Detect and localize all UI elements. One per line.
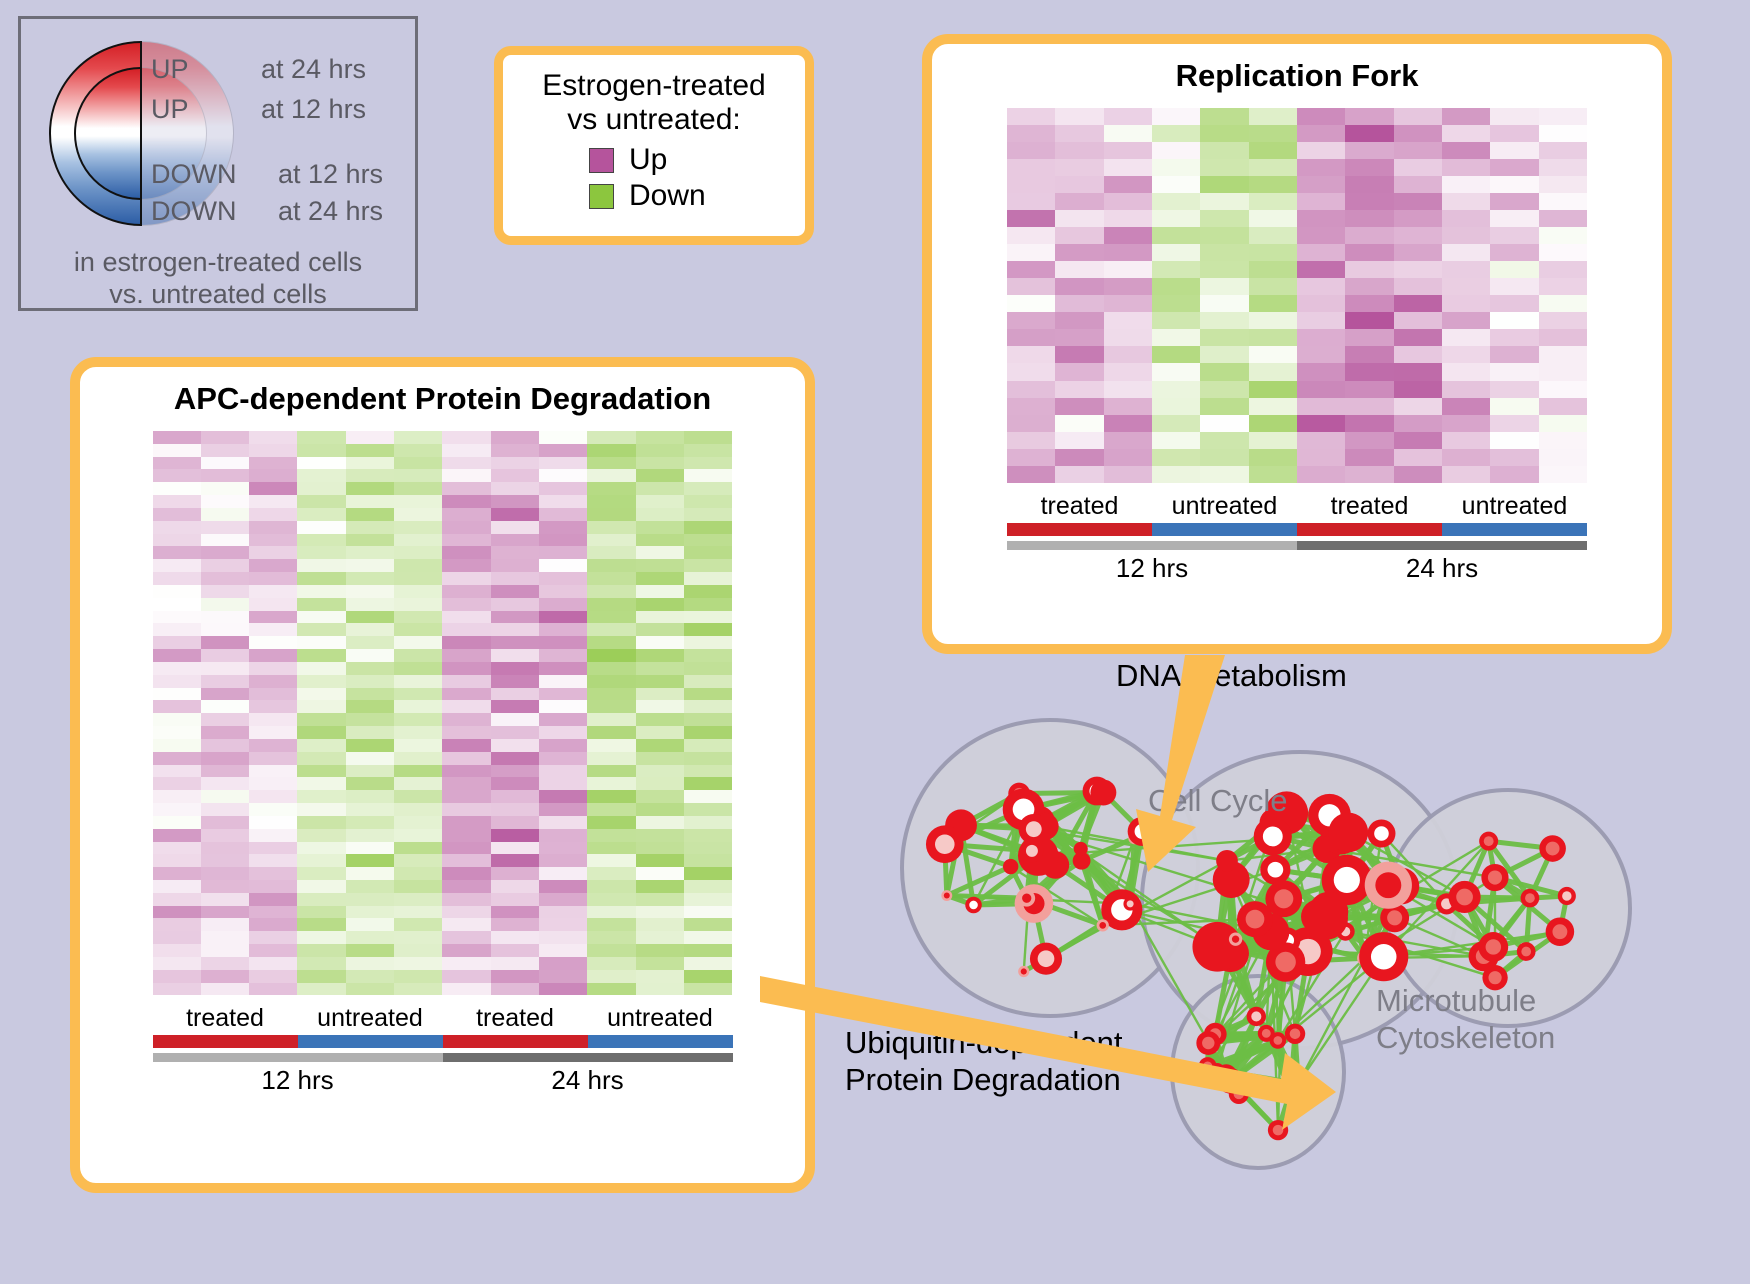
timepoint-labels: 12 hrs 24 hrs: [153, 1065, 733, 1096]
heatmap-cell: [346, 726, 394, 739]
heatmap-cell: [153, 713, 201, 726]
heatmap-cell: [1007, 227, 1055, 244]
heatmap-cell: [249, 906, 297, 919]
network-node-core: [1486, 939, 1501, 954]
heatmap-cell: [491, 931, 539, 944]
heatmap-cell: [539, 636, 587, 649]
heatmap-cell: [442, 469, 490, 482]
heatmap-cell: [1055, 244, 1103, 261]
heatmap-row: [153, 546, 733, 559]
heatmap-cell: [153, 944, 201, 957]
condition-label: untreated: [1152, 492, 1297, 521]
heatmap-cell: [636, 803, 684, 816]
network-node-core: [1525, 893, 1535, 903]
heatmap-cell: [1345, 227, 1393, 244]
heatmap-cell: [1249, 261, 1297, 278]
network-node-core: [1546, 842, 1560, 856]
heatmap-cell: [201, 662, 249, 675]
heatmap-cell: [394, 559, 442, 572]
heatmap-cell: [1104, 244, 1152, 261]
heatmap-cell: [636, 469, 684, 482]
heatmap-cell: [1490, 415, 1538, 432]
heatmap-cell: [684, 713, 732, 726]
heatmap-cell: [587, 469, 635, 482]
heatmap-cell: [684, 508, 732, 521]
heatmap-row: [1007, 381, 1587, 398]
heatmap-cell: [346, 739, 394, 752]
heatmap-cell: [394, 777, 442, 790]
heatmap-cell: [1490, 125, 1538, 142]
condition-bar-segment: [153, 1035, 298, 1048]
heatmap-cell: [1442, 193, 1490, 210]
heatmap-cell: [394, 906, 442, 919]
heatmap-row: [153, 970, 733, 983]
network-node-core: [1521, 947, 1531, 957]
heatmap-cell: [442, 623, 490, 636]
panel-apc-degradation: APC-dependent Protein Degradation treate…: [70, 357, 815, 1193]
heatmap-cell: [1249, 346, 1297, 363]
heatmap-cell: [249, 572, 297, 585]
heatmap-cell: [346, 842, 394, 855]
heatmap-cell: [394, 495, 442, 508]
heatmap-cell: [587, 662, 635, 675]
heatmap-cell: [636, 931, 684, 944]
heatmap-cell: [491, 842, 539, 855]
heatmap-cell: [1345, 193, 1393, 210]
heatmap-cell: [539, 803, 587, 816]
heatmap-cell: [346, 906, 394, 919]
heatmap-cell: [442, 636, 490, 649]
heatmap-row: [153, 688, 733, 701]
heatmap-cell: [153, 559, 201, 572]
network-node-core: [1213, 1066, 1220, 1073]
heatmap-cell: [1249, 432, 1297, 449]
heatmap-cell: [491, 739, 539, 752]
heatmap-cell: [153, 623, 201, 636]
heatmap-cell: [1442, 261, 1490, 278]
heatmap-row: [153, 803, 733, 816]
heatmap-cell: [1200, 142, 1248, 159]
heatmap-cell: [153, 842, 201, 855]
heatmap-cell: [491, 983, 539, 996]
heatmap-cell: [249, 931, 297, 944]
heatmap-cell: [249, 431, 297, 444]
heatmap-cell: [346, 457, 394, 470]
heatmap-cell: [346, 444, 394, 457]
heatmap-cell: [491, 970, 539, 983]
heatmap-cell: [1345, 278, 1393, 295]
heatmap-cell: [636, 893, 684, 906]
heatmap-cell: [1539, 329, 1587, 346]
heatmap-cell: [684, 918, 732, 931]
heatmap-cell: [249, 983, 297, 996]
network-node-core: [944, 893, 950, 899]
heatmap-cell: [684, 559, 732, 572]
heatmap-cell: [1200, 193, 1248, 210]
heatmap-cell: [684, 469, 732, 482]
heatmap-cell: [491, 469, 539, 482]
heatmap-cell: [1152, 398, 1200, 415]
heatmap-cell: [587, 713, 635, 726]
heatmap-cell: [201, 559, 249, 572]
heatmap-cell: [1394, 329, 1442, 346]
condition-label: untreated: [298, 1004, 443, 1033]
heatmap-cell: [1490, 159, 1538, 176]
heatmap-row: [1007, 227, 1587, 244]
heatmap-cell: [1345, 415, 1393, 432]
heatmap-cell: [249, 469, 297, 482]
heatmap-cell: [346, 931, 394, 944]
heatmap-cell: [587, 521, 635, 534]
heatmap-cell: [491, 559, 539, 572]
heatmap-cell: [587, 457, 635, 470]
heatmap-cell: [636, 482, 684, 495]
heatmap-cell: [684, 752, 732, 765]
legend-key-items: Up Down: [503, 143, 805, 213]
heatmap-row: [153, 623, 733, 636]
heatmap-cell: [297, 983, 345, 996]
heatmap-cell: [297, 444, 345, 457]
heatmap-cell: [539, 829, 587, 842]
heatmap-cell: [1297, 278, 1345, 295]
heatmap-cell: [684, 534, 732, 547]
heatmap-cell: [491, 752, 539, 765]
heatmap-cell: [539, 469, 587, 482]
heatmap-cell: [1539, 193, 1587, 210]
heatmap-row: [1007, 312, 1587, 329]
heatmap-cell: [636, 623, 684, 636]
heatmap-cell: [201, 585, 249, 598]
heatmap-cell: [1345, 381, 1393, 398]
heatmap-cell: [539, 662, 587, 675]
heatmap-row: [153, 508, 733, 521]
cluster-label-dna-metabolism: DNA Metabolism: [1116, 658, 1347, 694]
heatmap-cell: [394, 457, 442, 470]
heatmap-cell: [442, 931, 490, 944]
heatmap-cell: [491, 444, 539, 457]
heatmap-cell: [1249, 312, 1297, 329]
panel-replication-fork: Replication Fork treated untreated treat…: [922, 34, 1672, 654]
heatmap-cell: [153, 867, 201, 880]
heatmap-row: [1007, 449, 1587, 466]
heatmap-row: [1007, 159, 1587, 176]
heatmap-cell: [1007, 295, 1055, 312]
heatmap-cell: [297, 469, 345, 482]
heatmap-cell: [1152, 381, 1200, 398]
heatmap-cell: [249, 534, 297, 547]
network-node: [1192, 922, 1242, 972]
heatmap-cell: [442, 906, 490, 919]
condition-bar-segment: [588, 1035, 733, 1048]
heatmap-cell: [1200, 159, 1248, 176]
heatmap-cell: [153, 611, 201, 624]
heatmap-cell: [684, 572, 732, 585]
heatmap-cell: [636, 431, 684, 444]
heatmap-cell: [1104, 108, 1152, 125]
heatmap-cell: [1200, 227, 1248, 244]
heatmap-row: [153, 854, 733, 867]
heatmap-cell: [539, 431, 587, 444]
heatmap-cell: [1007, 176, 1055, 193]
heatmap-cell: [587, 649, 635, 662]
heatmap-cell: [1539, 398, 1587, 415]
heatmap-cell: [442, 842, 490, 855]
heatmap-cell: [491, 906, 539, 919]
heatmap-row: [1007, 244, 1587, 261]
heatmap-cell: [587, 790, 635, 803]
heatmap-cell: [442, 893, 490, 906]
heatmap-cell: [249, 944, 297, 957]
heatmap-cell: [153, 521, 201, 534]
heatmap-cell: [346, 790, 394, 803]
heatmap-row: [153, 726, 733, 739]
heatmap-cell: [1055, 210, 1103, 227]
heatmap-cell: [1055, 346, 1103, 363]
heatmap-cell: [394, 469, 442, 482]
heatmap-cell: [153, 457, 201, 470]
heatmap-row: [1007, 142, 1587, 159]
heatmap-cell: [249, 585, 297, 598]
heatmap-cell: [636, 675, 684, 688]
heatmap-cell: [346, 636, 394, 649]
heatmap-cell: [346, 957, 394, 970]
heatmap-cell: [297, 829, 345, 842]
heatmap-cell: [1539, 261, 1587, 278]
heatmap-cell: [1297, 193, 1345, 210]
heatmap-cell: [249, 880, 297, 893]
heatmap-cell: [1007, 398, 1055, 415]
heatmap-cell: [1152, 449, 1200, 466]
heatmap-cell: [394, 675, 442, 688]
network-node-core: [1262, 1029, 1271, 1038]
condition-labels: treated untreated treated untreated: [1007, 492, 1587, 521]
heatmap-cell: [1249, 398, 1297, 415]
heatmap-cell: [636, 970, 684, 983]
heatmap-cell: [394, 790, 442, 803]
heatmap-cell: [587, 534, 635, 547]
network-node-core: [1374, 826, 1389, 841]
heatmap-cell: [1394, 449, 1442, 466]
heatmap-cell: [1104, 398, 1152, 415]
heatmap-cell: [297, 726, 345, 739]
heatmap-cell: [491, 572, 539, 585]
heatmap-cell: [153, 598, 201, 611]
network-node-core: [1251, 1011, 1261, 1021]
heatmap-cell: [201, 944, 249, 957]
heatmap-cell: [201, 431, 249, 444]
heatmap-row: [1007, 346, 1587, 363]
heatmap-cell: [1104, 363, 1152, 380]
heatmap-row: [153, 469, 733, 482]
heatmap-cell: [1152, 261, 1200, 278]
heatmap-cell: [1345, 142, 1393, 159]
heatmap-cell: [153, 803, 201, 816]
heatmap-cell: [684, 867, 732, 880]
heatmap-cell: [346, 854, 394, 867]
heatmap-cell: [1442, 398, 1490, 415]
heatmap-cell: [1104, 312, 1152, 329]
heatmap-cell: [1394, 363, 1442, 380]
heatmap-cell: [201, 739, 249, 752]
heatmap-cell: [587, 983, 635, 996]
heatmap-cell: [491, 688, 539, 701]
heatmap-cell: [1442, 295, 1490, 312]
network-node-core: [1375, 872, 1401, 898]
heatmap-cell: [587, 508, 635, 521]
heatmap-cell: [1442, 329, 1490, 346]
condition-label: treated: [153, 1004, 298, 1033]
heatmap-cell: [1200, 278, 1248, 295]
heatmap-cell: [1345, 176, 1393, 193]
heatmap-row: [153, 829, 733, 842]
heatmap-cell: [297, 508, 345, 521]
heatmap-apc-axis: treated untreated treated untreated 12 h…: [153, 1004, 733, 1096]
heatmap-cell: [442, 765, 490, 778]
heatmap-cell: [636, 444, 684, 457]
heatmap-row: [1007, 363, 1587, 380]
cluster-label-line1: Ubiquitin-dependent: [845, 1025, 1123, 1062]
heatmap-cell: [1345, 466, 1393, 483]
heatmap-cell: [394, 880, 442, 893]
heatmap-cell: [1104, 295, 1152, 312]
heatmap-cell: [1200, 329, 1248, 346]
heatmap-cell: [587, 546, 635, 559]
heatmap-cell: [587, 944, 635, 957]
heatmap-cell: [539, 700, 587, 713]
heatmap-row: [153, 585, 733, 598]
cluster-label-line1: Microtubule: [1376, 983, 1555, 1020]
heatmap-cell: [1442, 381, 1490, 398]
heatmap-cell: [539, 546, 587, 559]
heatmap-cell: [297, 495, 345, 508]
heatmap-row: [153, 957, 733, 970]
network-node-core: [1246, 910, 1265, 929]
heatmap-row: [153, 636, 733, 649]
heatmap-cell: [1200, 466, 1248, 483]
heatmap-cell: [153, 585, 201, 598]
heatmap-cell: [684, 495, 732, 508]
heatmap-cell: [539, 777, 587, 790]
heatmap-row: [153, 880, 733, 893]
heatmap-cell: [1200, 210, 1248, 227]
network-node-core: [1135, 824, 1150, 839]
heatmap-replication-fork: [1007, 108, 1587, 483]
heatmap-cell: [1055, 125, 1103, 142]
network-node: [1329, 813, 1369, 853]
heatmap-cell: [1442, 415, 1490, 432]
legend-key-title-line1: Estrogen-treated: [503, 69, 805, 103]
heatmap-cell: [346, 675, 394, 688]
heatmap-cell: [1249, 176, 1297, 193]
heatmap-cell: [539, 726, 587, 739]
heatmap-cell: [394, 918, 442, 931]
heatmap-cell: [539, 854, 587, 867]
heatmap-cell: [587, 906, 635, 919]
heatmap-row: [1007, 193, 1587, 210]
network-edge: [947, 896, 1027, 899]
heatmap-cell: [201, 842, 249, 855]
heatmap-cell: [1007, 312, 1055, 329]
heatmap-cell: [346, 918, 394, 931]
timepoint-bar-segment: [443, 1053, 733, 1062]
heatmap-cell: [346, 482, 394, 495]
heatmap-cell: [1152, 142, 1200, 159]
heatmap-cell: [684, 726, 732, 739]
heatmap-cell: [684, 546, 732, 559]
heatmap-cell: [153, 649, 201, 662]
heatmap-cell: [201, 521, 249, 534]
heatmap-cell: [1442, 432, 1490, 449]
heatmap-cell: [394, 803, 442, 816]
heatmap-cell: [1152, 244, 1200, 261]
heatmap-cell: [1539, 227, 1587, 244]
heatmap-cell: [1104, 346, 1152, 363]
heatmap-cell: [442, 803, 490, 816]
heatmap-row: [153, 572, 733, 585]
legend-key-title: Estrogen-treated vs untreated:: [503, 69, 805, 137]
heatmap-cell: [539, 521, 587, 534]
heatmap-cell: [1152, 312, 1200, 329]
heatmap-cell: [394, 444, 442, 457]
heatmap-cell: [491, 893, 539, 906]
heatmap-cell: [539, 842, 587, 855]
heatmap-cell: [539, 534, 587, 547]
heatmap-cell: [249, 713, 297, 726]
heatmap-cell: [153, 572, 201, 585]
heatmap-cell: [442, 739, 490, 752]
heatmap-cell: [1249, 415, 1297, 432]
condition-label: treated: [443, 1004, 588, 1033]
heatmap-cell: [1345, 108, 1393, 125]
heatmap-cell: [1249, 278, 1297, 295]
heatmap-cell: [539, 623, 587, 636]
cluster-label-ubiquitin-degradation: Ubiquitin-dependent Protein Degradation: [845, 1025, 1123, 1098]
heatmap-cell: [442, 585, 490, 598]
timepoint-bar-segment: [1297, 541, 1587, 550]
scale-time: at 12 hrs: [278, 159, 383, 190]
network-node: [1003, 859, 1018, 874]
heatmap-cell: [1200, 449, 1248, 466]
heatmap-cell: [1152, 363, 1200, 380]
heatmap-cell: [636, 700, 684, 713]
heatmap-cell: [1539, 449, 1587, 466]
heatmap-cell: [1539, 142, 1587, 159]
heatmap-cell: [442, 700, 490, 713]
heatmap-cell: [201, 816, 249, 829]
cluster-label-cell-cycle: Cell Cycle: [1148, 783, 1288, 819]
heatmap-cell: [1104, 125, 1152, 142]
heatmap-cell: [1055, 142, 1103, 159]
heatmap-cell: [491, 598, 539, 611]
heatmap-cell: [442, 611, 490, 624]
heatmap-cell: [1297, 176, 1345, 193]
heatmap-cell: [587, 893, 635, 906]
network-node: [1074, 842, 1088, 856]
heatmap-cell: [587, 444, 635, 457]
heatmap-cell: [684, 739, 732, 752]
heatmap-cell: [1104, 227, 1152, 244]
heatmap-cell: [1297, 381, 1345, 398]
heatmap-cell: [636, 713, 684, 726]
heatmap-cell: [153, 546, 201, 559]
heatmap-cell: [539, 649, 587, 662]
heatmap-cell: [1394, 381, 1442, 398]
heatmap-cell: [249, 918, 297, 931]
heatmap-cell: [297, 611, 345, 624]
legend-key-title-line2: vs untreated:: [503, 103, 805, 137]
heatmap-cell: [1394, 142, 1442, 159]
network-node-core: [1021, 968, 1027, 974]
